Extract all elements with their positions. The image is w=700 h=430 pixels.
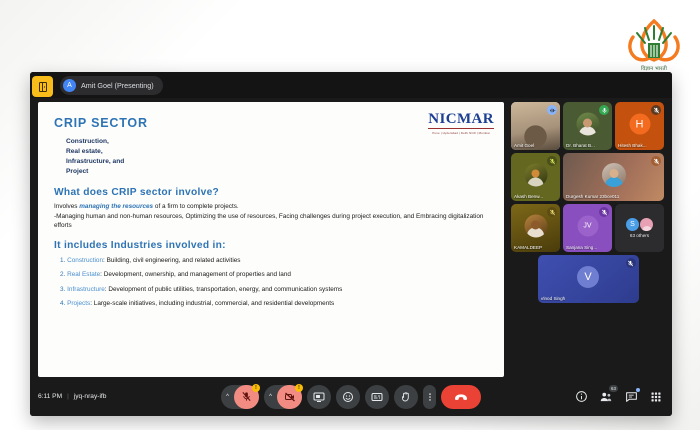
participant-name: Akash Benw... [514,194,543,199]
raise-hand-button[interactable] [394,385,418,409]
avatar-initial: JV [577,216,598,237]
slide-subtitle-list: Construction, Real estate, Infrastructur… [66,137,488,177]
participant-tile-akash[interactable]: Akash Benw... [511,153,560,201]
participant-name: KAMALDEEP [514,245,542,250]
list-item-text: : Large-scale initiatives, including ind… [90,300,334,307]
meta-divider: | [67,393,69,400]
others-count-label: 63 others [630,233,649,238]
participant-photo [524,214,547,237]
list-item-key: Projects [67,300,90,307]
present-now-button[interactable] [307,385,331,409]
subtitle-line: Project [66,167,488,177]
camera-off-icon [284,391,296,403]
participant-tile-hitesh[interactable]: H Hitesh Bhak... [615,102,664,150]
presentation-slide: NICMAR Pune | Hyderabad | Delhi NCR | Mu… [38,102,504,377]
people-button[interactable]: 63 [598,389,614,405]
participant-name: Vinod Singh [541,296,566,301]
list-item-text: : Development, ownership, and management… [100,271,291,278]
closed-captions-icon [371,391,383,403]
list-item-key: Construction [67,257,103,264]
paragraph-pre: Involves [54,203,79,210]
list-item: 4. Projects: Large-scale initiatives, in… [60,297,488,311]
participant-name: Amit Goel [514,143,534,148]
mic-muted-icon [653,107,660,114]
mic-muted-icon [627,260,634,267]
list-item-text: : Development of public utilities, trans… [105,286,343,293]
others-tile[interactable]: S 63 others [615,204,664,252]
nicmar-brand: NICMAR Pune | Hyderabad | Delhi NCR | Mu… [428,112,494,135]
avatar [640,218,653,231]
screenshot-root: विज्ञान भारती A Amit Goel (Presenting) N… [0,0,700,430]
call-controls: ^ ! ^ [221,385,481,409]
mic-off-icon [547,207,557,217]
paragraph-post: of a firm to complete projects. [153,203,239,210]
people-count-badge: 63 [609,385,618,392]
chat-icon [625,390,638,403]
list-item: 3. Infrastructure: Development of public… [60,283,488,297]
participant-photo [524,163,547,186]
meeting-details-button[interactable] [573,389,589,405]
list-item-number: 3. [60,286,65,293]
participant-photo [602,163,626,187]
camera-button[interactable]: ^ ! [264,385,302,409]
avatar: A [63,79,76,92]
camera-options-caret-icon[interactable]: ^ [264,385,277,409]
list-item-number: 1. [60,257,65,264]
mic-off-icon [651,156,661,166]
slide-industry-list: 1. Construction: Building, civil enginee… [60,254,488,312]
others-avatars: S [626,218,653,231]
mic-toggle[interactable]: ! [234,385,259,409]
camera-toggle[interactable]: ! [277,385,302,409]
participant-name: Durgesh Kumar 23bce011 [566,194,619,199]
shared-screen-stage[interactable]: NICMAR Pune | Hyderabad | Delhi NCR | Mu… [38,102,504,377]
presenting-chip-label: Amit Goel (Presenting) [81,81,154,90]
info-icon [575,390,588,403]
people-icon [599,390,613,404]
raised-hand-icon [400,391,412,403]
speaking-indicator-icon [547,105,557,115]
slide-paragraph-2: -Managing human and non-human resources,… [54,212,488,231]
org-logo: विज्ञान भारती [616,10,692,72]
subtitle-line: Real estate, [66,147,488,157]
mic-muted-icon [549,158,556,165]
participant-photo [576,112,599,135]
mic-muted-icon [549,209,556,216]
more-vertical-icon [425,391,435,403]
list-item: 1. Construction: Building, civil enginee… [60,254,488,268]
camera-warning-badge: ! [295,384,303,392]
mic-on-icon [599,105,609,115]
mic-icon [601,107,608,114]
meet-bottom-bar: 6:11 PM | jyq-nray-ifb ^ ! [30,377,672,416]
participant-name: Sanjana Sing... [566,245,597,250]
subtitle-line: Construction, [66,137,488,147]
slide-title: CRIP SECTOR [54,116,488,130]
mic-off-icon [626,258,636,268]
avatar: S [626,218,639,231]
presenting-chip[interactable]: A Amit Goel (Presenting) [60,76,163,95]
nicmar-rule [428,128,494,129]
participant-tile-kamaldeep[interactable]: KAMALDEEP [511,204,560,252]
subtitle-line: Infrastructure, and [66,157,488,167]
participant-tile-amit-goel[interactable]: Amit Goel [511,102,560,150]
microphone-button[interactable]: ^ ! [221,385,259,409]
more-options-button[interactable] [423,385,436,409]
participant-tile-sanjana[interactable]: JV Sanjana Sing... [563,204,612,252]
mic-warning-badge: ! [252,384,260,392]
participant-name: Hitesh Bhak... [618,143,647,148]
participant-name: Dr. Bharat B... [566,143,595,148]
avatar-initial: V [577,266,599,288]
presentation-glyph-icon [37,81,49,93]
captions-button[interactable] [365,385,389,409]
list-item-number: 4. [60,300,65,307]
avatar-initial: H [629,114,650,135]
activities-button[interactable] [648,389,664,405]
meeting-meta: 6:11 PM | jyq-nray-ifb [38,393,106,400]
present-screen-icon [313,391,325,403]
mic-off-icon [241,391,252,402]
tile-row: Amit Goel Dr. Bharat B... [511,102,665,150]
presenting-bar: A Amit Goel (Presenting) [30,72,672,98]
participant-tile-durgesh[interactable]: Durgesh Kumar 23bce011 [563,153,664,201]
reactions-button[interactable] [336,385,360,409]
mic-options-caret-icon[interactable]: ^ [221,385,234,409]
tile-row: KAMALDEEP JV Sanjana Sing... [511,204,665,252]
slide-paragraph-1: Involves managing the resources of a fir… [54,202,488,212]
chat-unread-dot [636,388,640,392]
end-call-button[interactable] [441,385,481,409]
phone-hangup-icon [453,389,469,405]
participant-tile-dr-bharat[interactable]: Dr. Bharat B... [563,102,612,150]
list-item-key: Real Estate [67,271,100,278]
tile-row: V Vinod Singh [511,255,665,303]
meet-right-controls: 63 [573,389,664,405]
nicmar-campuses: Pune | Hyderabad | Delhi NCR | Mumbai [428,131,494,135]
tile-row: Akash Benw... Durgesh Kumar 23 [511,153,665,201]
mic-muted-icon [601,209,608,216]
audio-bars-icon [549,107,556,114]
grid-apps-icon [650,391,662,403]
mic-off-icon [599,207,609,217]
list-item-number: 2. [60,271,65,278]
slide-section-heading-1: What does CRIP sector involve? [54,187,488,198]
mic-off-icon [547,156,557,166]
chat-button[interactable] [623,389,639,405]
emoji-smiley-icon [342,391,354,403]
list-item: 2. Real Estate: Development, ownership, … [60,268,488,282]
list-item-text: : Building, civil engineering, and relat… [103,257,240,264]
slide-section-heading-2: It includes Industries involved in: [54,240,488,251]
participant-rail: Amit Goel Dr. Bharat B... [511,102,665,377]
participant-tile-vinod-singh[interactable]: V Vinod Singh [538,255,639,303]
nicmar-wordmark: NICMAR [428,112,494,127]
mic-off-icon [651,105,661,115]
paragraph-emphasis: managing the resources [79,203,153,210]
meeting-time: 6:11 PM [38,393,62,400]
list-item-key: Infrastructure [67,286,105,293]
mic-muted-icon [653,158,660,165]
presentation-icon[interactable] [32,76,53,97]
google-meet-window: A Amit Goel (Presenting) NICMAR Pune | H… [30,72,672,416]
vibha-lotus-icon [623,17,685,63]
meeting-code: jyq-nray-ifb [74,393,107,400]
org-logo-caption: विज्ञान भारती [641,64,667,72]
